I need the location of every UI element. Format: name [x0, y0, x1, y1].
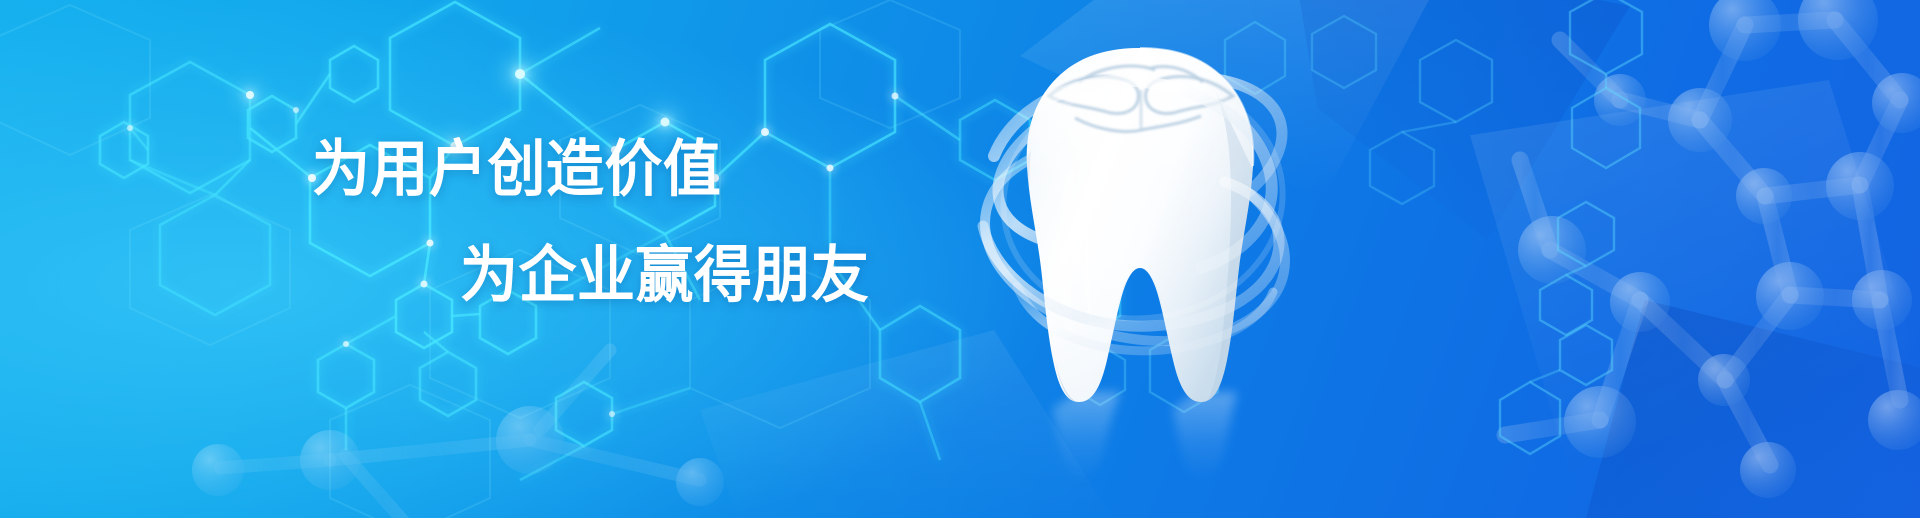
tooth-reflection [1053, 392, 1237, 482]
headline-line-2: 为企业赢得朋友 [300, 240, 960, 310]
tooth-graphic-icon [975, 30, 1305, 510]
tooth-illustration [975, 30, 1305, 510]
molecule-network-icon [0, 0, 1920, 518]
dental-hero-banner: 为用户创造价值 为企业赢得朋友 [0, 0, 1920, 518]
headline-line-1: 为用户创造价值 [300, 134, 960, 204]
headline-block: 为用户创造价值 为企业赢得朋友 [300, 134, 960, 306]
